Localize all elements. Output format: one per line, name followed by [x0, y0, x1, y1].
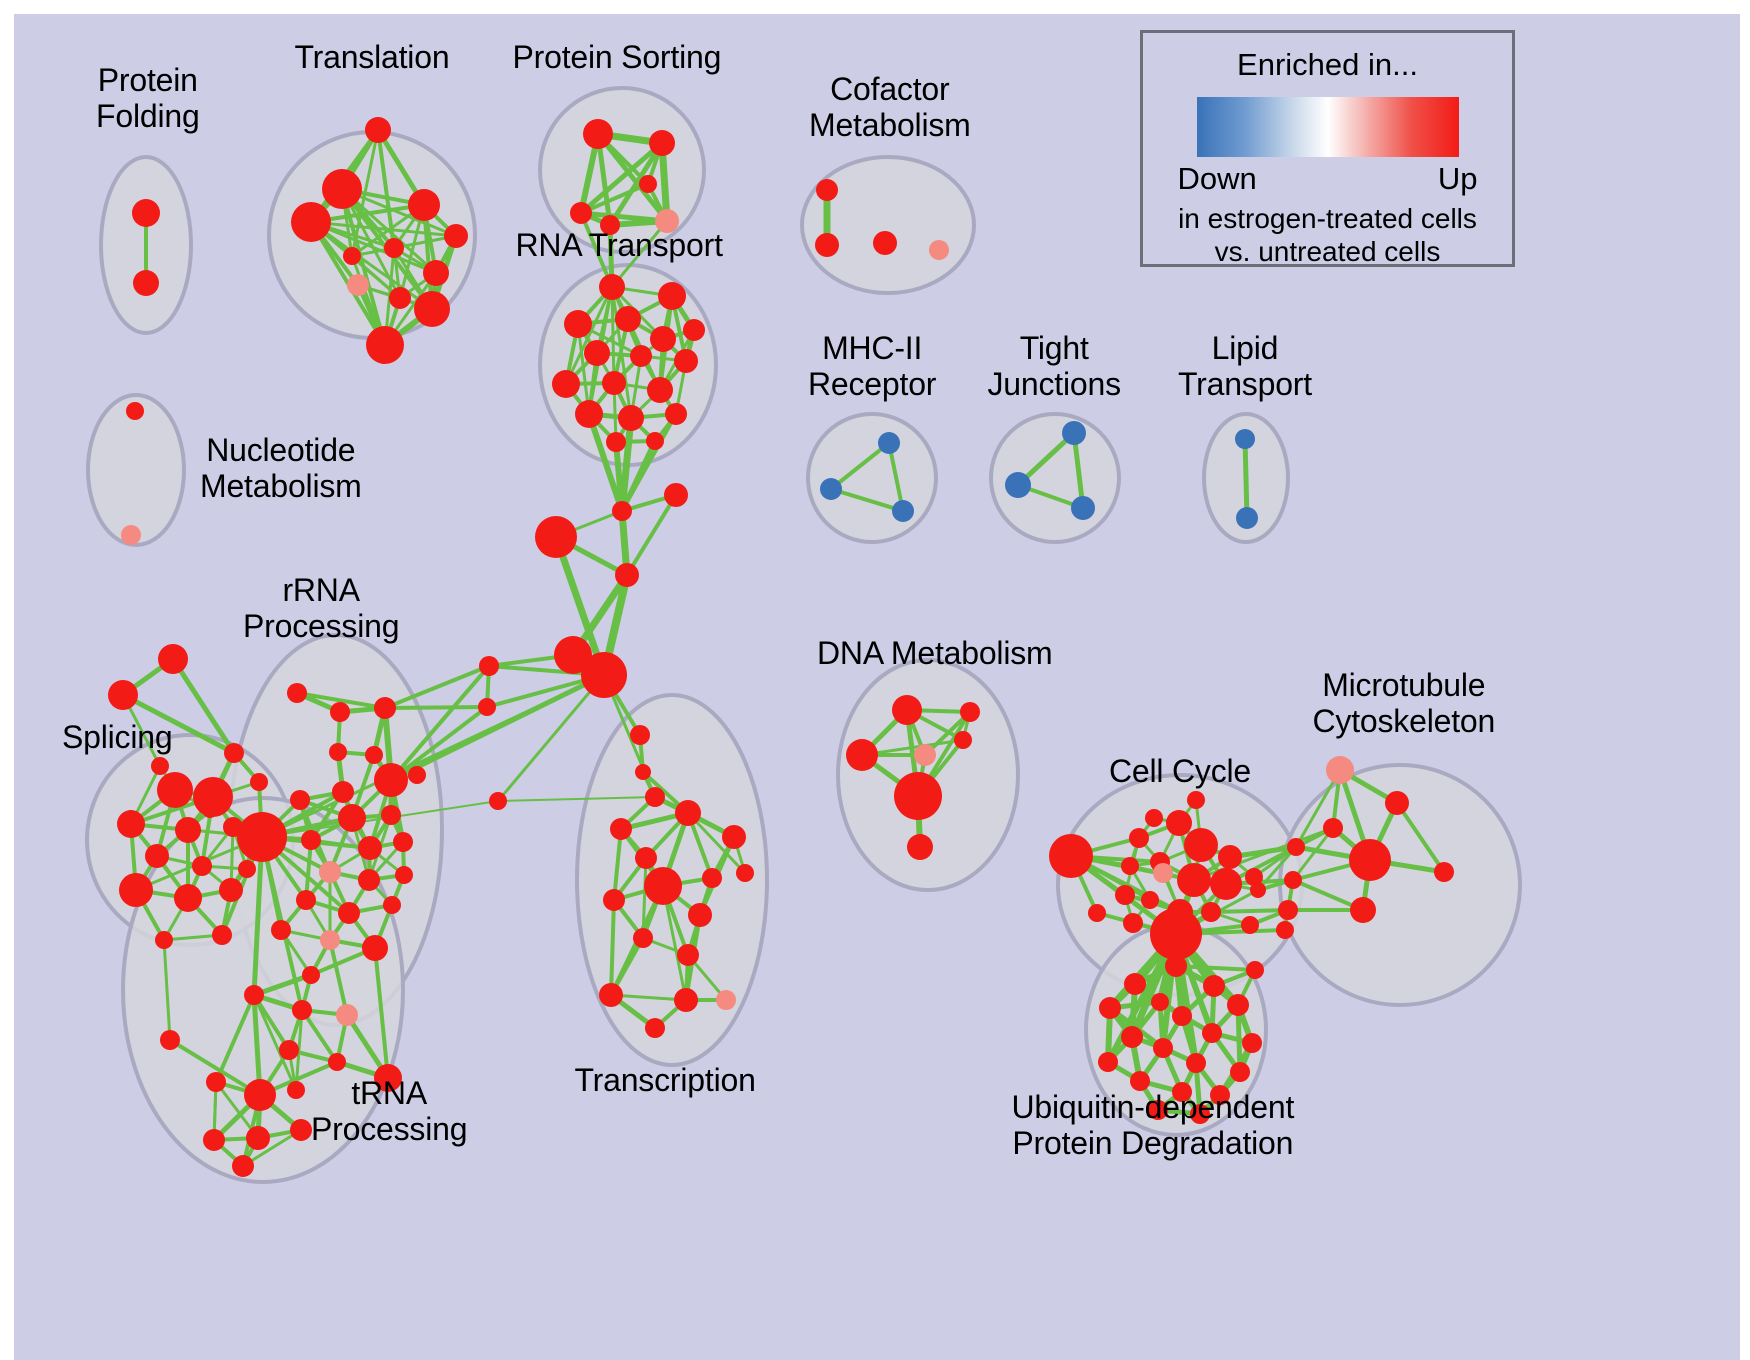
- gene-set-node[interactable]: [292, 1000, 312, 1020]
- gene-set-node[interactable]: [408, 189, 440, 221]
- gene-set-node[interactable]: [374, 697, 396, 719]
- gene-set-node[interactable]: [192, 856, 212, 876]
- gene-set-node[interactable]: [716, 990, 736, 1010]
- gene-set-node[interactable]: [846, 739, 878, 771]
- gene-set-node[interactable]: [552, 370, 580, 398]
- gene-set-node[interactable]: [244, 1079, 276, 1111]
- gene-set-node[interactable]: [219, 878, 243, 902]
- gene-set-node[interactable]: [1145, 809, 1163, 827]
- cluster-label-tight-junctions: Tight Junctions: [988, 331, 1121, 403]
- gene-set-node[interactable]: [1184, 828, 1218, 862]
- gene-set-node[interactable]: [1323, 818, 1343, 838]
- gene-set-node[interactable]: [564, 310, 592, 338]
- gene-set-node[interactable]: [677, 944, 699, 966]
- gene-set-node[interactable]: [702, 868, 722, 888]
- gene-set-node[interactable]: [1235, 429, 1255, 449]
- gene-set-node[interactable]: [174, 884, 202, 912]
- gene-set-node[interactable]: [383, 896, 401, 914]
- gene-set-node[interactable]: [602, 371, 626, 395]
- legend-down-label: Down: [1178, 161, 1257, 197]
- gene-set-node[interactable]: [121, 525, 141, 545]
- gene-set-node[interactable]: [639, 175, 657, 193]
- gene-set-node[interactable]: [960, 702, 980, 722]
- gene-set-node[interactable]: [212, 925, 232, 945]
- gene-set-node[interactable]: [336, 1004, 358, 1026]
- gene-set-node[interactable]: [347, 274, 369, 296]
- gene-set-node[interactable]: [203, 1129, 225, 1151]
- cluster-label-splicing: Splicing: [62, 720, 172, 756]
- gene-set-node[interactable]: [301, 830, 321, 850]
- gene-set-node[interactable]: [892, 695, 922, 725]
- gene-set-node[interactable]: [108, 680, 138, 710]
- gene-set-node[interactable]: [250, 773, 268, 791]
- gene-set-node[interactable]: [1124, 973, 1146, 995]
- gene-set-node[interactable]: [1172, 1006, 1192, 1026]
- gene-set-node[interactable]: [1187, 791, 1205, 809]
- gene-set-node[interactable]: [132, 199, 160, 227]
- cluster-label-rna-transport: RNA Transport: [516, 228, 723, 264]
- gene-set-node[interactable]: [815, 233, 839, 257]
- gene-set-node[interactable]: [665, 403, 687, 425]
- gene-set-node[interactable]: [160, 1030, 180, 1050]
- gene-set-node[interactable]: [581, 652, 627, 698]
- gene-set-node[interactable]: [1071, 496, 1095, 520]
- gene-set-node[interactable]: [630, 725, 650, 745]
- cluster-label-rrna-processing: rRNA Processing: [243, 573, 399, 645]
- gene-set-node[interactable]: [674, 349, 698, 373]
- gene-set-node[interactable]: [1186, 1053, 1206, 1073]
- gene-set-node[interactable]: [332, 781, 354, 803]
- gene-set-node[interactable]: [664, 483, 688, 507]
- gene-set-node[interactable]: [606, 432, 626, 452]
- gene-set-node[interactable]: [644, 867, 682, 905]
- legend-subtitle-line2: vs. untreated cells: [1143, 236, 1512, 268]
- legend-endpoints: Down Up: [1178, 161, 1478, 197]
- gene-set-node[interactable]: [232, 1155, 254, 1177]
- gene-set-node[interactable]: [1434, 862, 1454, 882]
- gene-set-node[interactable]: [722, 825, 746, 849]
- gene-set-node[interactable]: [1218, 845, 1242, 869]
- gene-set-node[interactable]: [688, 903, 712, 927]
- gene-set-node[interactable]: [279, 1040, 299, 1060]
- gene-set-node[interactable]: [408, 766, 426, 784]
- gene-set-node[interactable]: [1242, 1033, 1262, 1053]
- gene-set-node[interactable]: [1230, 1062, 1250, 1082]
- gene-set-node[interactable]: [338, 902, 360, 924]
- gene-set-node[interactable]: [635, 764, 651, 780]
- gene-set-node[interactable]: [1284, 871, 1302, 889]
- gene-set-node[interactable]: [633, 928, 653, 948]
- gene-set-node[interactable]: [635, 847, 657, 869]
- gene-set-node[interactable]: [1349, 839, 1391, 881]
- gene-set-node[interactable]: [202, 802, 218, 818]
- gene-set-node[interactable]: [1098, 1052, 1118, 1072]
- gene-set-node[interactable]: [816, 179, 838, 201]
- gene-set-node[interactable]: [584, 340, 610, 366]
- gene-set-node[interactable]: [615, 306, 641, 332]
- gene-set-node[interactable]: [374, 763, 408, 797]
- gene-set-node[interactable]: [1130, 1071, 1150, 1091]
- gene-set-node[interactable]: [1241, 916, 1259, 934]
- gene-set-node[interactable]: [358, 836, 382, 860]
- gene-set-node[interactable]: [570, 202, 592, 224]
- gene-set-node[interactable]: [384, 238, 404, 258]
- gene-set-node[interactable]: [1350, 897, 1376, 923]
- gene-set-node[interactable]: [873, 231, 897, 255]
- gene-set-node[interactable]: [330, 702, 350, 722]
- gene-set-node[interactable]: [271, 920, 291, 940]
- gene-set-node[interactable]: [145, 844, 169, 868]
- gene-set-node[interactable]: [894, 772, 942, 820]
- gene-set-node[interactable]: [151, 757, 169, 775]
- gene-set-node[interactable]: [244, 985, 264, 1005]
- gene-set-node[interactable]: [366, 326, 404, 364]
- gene-set-node[interactable]: [1049, 834, 1093, 878]
- gene-set-node[interactable]: [1385, 791, 1409, 815]
- cluster-label-transcription: Transcription: [575, 1063, 756, 1099]
- gene-set-node[interactable]: [1250, 882, 1266, 898]
- gene-set-node[interactable]: [414, 291, 450, 327]
- gene-set-node[interactable]: [1099, 997, 1121, 1019]
- gene-set-node[interactable]: [610, 818, 632, 840]
- gene-set-node[interactable]: [1165, 955, 1187, 977]
- gene-set-node[interactable]: [674, 988, 698, 1012]
- gene-set-node[interactable]: [649, 130, 675, 156]
- cluster-label-ubiquitin-protein-degradation: Ubiquitin-dependent Protein Degradation: [1012, 1090, 1295, 1162]
- gene-set-node[interactable]: [343, 247, 361, 265]
- gene-set-node[interactable]: [1115, 885, 1135, 905]
- gene-set-node[interactable]: [1151, 993, 1169, 1011]
- gene-set-node[interactable]: [647, 377, 673, 403]
- gene-set-node[interactable]: [599, 274, 625, 300]
- gene-set-node[interactable]: [1326, 756, 1354, 784]
- gene-set-node[interactable]: [1129, 828, 1149, 848]
- gene-set-node[interactable]: [1005, 472, 1031, 498]
- gene-set-node[interactable]: [479, 656, 499, 676]
- gene-set-node[interactable]: [820, 478, 842, 500]
- cluster-label-nucleotide-metabolism: Nucleotide Metabolism: [200, 433, 362, 505]
- gene-set-node[interactable]: [157, 772, 193, 808]
- gene-set-node[interactable]: [954, 731, 972, 749]
- gene-set-node[interactable]: [1202, 1023, 1222, 1043]
- gene-set-node[interactable]: [362, 935, 388, 961]
- gene-set-node[interactable]: [423, 260, 449, 286]
- gene-set-node[interactable]: [389, 287, 411, 309]
- cluster-label-protein-sorting: Protein Sorting: [513, 40, 722, 76]
- color-scale-bar: [1197, 97, 1459, 157]
- gene-set-node[interactable]: [206, 1072, 226, 1092]
- gene-set-node[interactable]: [246, 1126, 270, 1150]
- gene-set-node[interactable]: [358, 869, 380, 891]
- gene-set-node[interactable]: [1153, 1038, 1173, 1058]
- gene-set-node[interactable]: [736, 864, 754, 882]
- gene-set-node[interactable]: [117, 810, 145, 838]
- cluster-label-translation: Translation: [295, 40, 450, 76]
- gene-set-node[interactable]: [1287, 838, 1305, 856]
- gene-set-node[interactable]: [381, 805, 401, 825]
- gene-set-node[interactable]: [1276, 921, 1294, 939]
- gene-set-node[interactable]: [646, 432, 664, 450]
- gene-set-node[interactable]: [1150, 908, 1202, 960]
- cluster-label-mhc-ii-receptor: MHC-II Receptor: [808, 331, 936, 403]
- gene-set-node[interactable]: [395, 866, 413, 884]
- gene-set-node[interactable]: [892, 500, 914, 522]
- gene-set-node[interactable]: [290, 1119, 312, 1141]
- gene-set-node[interactable]: [914, 744, 936, 766]
- cluster-label-trna-processing: tRNA Processing: [311, 1076, 467, 1148]
- cluster-label-protein-folding: Protein Folding: [96, 63, 200, 135]
- gene-set-node[interactable]: [535, 516, 577, 558]
- gene-set-node[interactable]: [320, 930, 340, 950]
- legend-subtitle-line1: in estrogen-treated cells: [1143, 203, 1512, 235]
- gene-set-node[interactable]: [444, 224, 468, 248]
- gene-set-node[interactable]: [119, 873, 153, 907]
- gene-set-node[interactable]: [133, 270, 159, 296]
- gene-set-node[interactable]: [290, 790, 310, 810]
- gene-set-node[interactable]: [1141, 891, 1159, 909]
- gene-set-node[interactable]: [1246, 961, 1264, 979]
- cluster-label-dna-metabolism: DNA Metabolism: [817, 636, 1053, 672]
- cluster-label-cofactor-metabolism: Cofactor Metabolism: [809, 72, 971, 144]
- cluster-label-lipid-transport: Lipid Transport: [1178, 331, 1312, 403]
- gene-set-node[interactable]: [478, 698, 496, 716]
- gene-set-node[interactable]: [1123, 913, 1143, 933]
- gene-set-node[interactable]: [603, 889, 625, 911]
- gene-set-node[interactable]: [683, 319, 705, 341]
- legend-panel: Enriched in... Down Up in estrogen-treat…: [1140, 30, 1515, 267]
- gene-set-node[interactable]: [907, 834, 933, 860]
- gene-set-node[interactable]: [291, 202, 331, 242]
- gene-set-node[interactable]: [650, 326, 676, 352]
- gene-set-node[interactable]: [615, 563, 639, 587]
- gene-set-node[interactable]: [1166, 810, 1192, 836]
- gene-set-node[interactable]: [287, 683, 307, 703]
- gene-set-node[interactable]: [583, 119, 613, 149]
- gene-set-node[interactable]: [365, 117, 391, 143]
- network-edge: [1211, 910, 1288, 912]
- gene-set-node[interactable]: [338, 804, 366, 832]
- gene-set-node[interactable]: [155, 931, 173, 949]
- gene-set-node[interactable]: [296, 890, 316, 910]
- gene-set-node[interactable]: [630, 345, 652, 367]
- gene-set-node[interactable]: [126, 402, 144, 420]
- gene-set-node[interactable]: [1062, 421, 1086, 445]
- hull-mhc-ii: [808, 414, 936, 542]
- gene-set-node[interactable]: [878, 432, 900, 454]
- gene-set-node[interactable]: [328, 1053, 346, 1071]
- gene-set-node[interactable]: [329, 743, 347, 761]
- network-edge: [498, 675, 604, 801]
- gene-set-node[interactable]: [645, 787, 665, 807]
- gene-set-node[interactable]: [365, 746, 383, 764]
- gene-set-node[interactable]: [238, 860, 256, 878]
- gene-set-node[interactable]: [302, 966, 320, 984]
- gene-set-node[interactable]: [287, 1081, 305, 1099]
- gene-set-node[interactable]: [158, 644, 188, 674]
- gene-set-node[interactable]: [1227, 994, 1249, 1016]
- gene-set-node[interactable]: [675, 800, 701, 826]
- cluster-label-cell-cycle: Cell Cycle: [1109, 754, 1251, 790]
- gene-set-node[interactable]: [1210, 868, 1242, 900]
- gene-set-node[interactable]: [1121, 1026, 1143, 1048]
- gene-set-node[interactable]: [612, 501, 632, 521]
- legend-up-label: Up: [1438, 161, 1478, 197]
- network-edge: [1245, 439, 1247, 518]
- enrichment-network-figure: Protein FoldingTranslationProtein Sortin…: [0, 0, 1750, 1360]
- gene-set-node[interactable]: [319, 861, 341, 883]
- gene-set-node[interactable]: [1236, 507, 1258, 529]
- legend-title: Enriched in...: [1143, 47, 1512, 83]
- gene-set-node[interactable]: [393, 832, 413, 852]
- gene-set-node[interactable]: [1121, 857, 1139, 875]
- gene-set-node[interactable]: [489, 792, 507, 810]
- gene-set-node[interactable]: [658, 282, 686, 310]
- gene-set-node[interactable]: [175, 817, 201, 843]
- gene-set-node[interactable]: [575, 400, 603, 428]
- gene-set-node[interactable]: [645, 1018, 665, 1038]
- gene-set-node[interactable]: [1278, 900, 1298, 920]
- cluster-label-microtubule-cytoskeleton: Microtubule Cytoskeleton: [1313, 668, 1496, 740]
- network-edge: [385, 707, 487, 708]
- gene-set-node[interactable]: [929, 240, 949, 260]
- gene-set-node[interactable]: [237, 812, 287, 862]
- gene-set-node[interactable]: [1088, 904, 1106, 922]
- gene-set-node[interactable]: [1201, 902, 1221, 922]
- gene-set-node[interactable]: [1153, 863, 1173, 883]
- gene-set-node[interactable]: [224, 743, 244, 763]
- gene-set-node[interactable]: [599, 983, 623, 1007]
- gene-set-node[interactable]: [1203, 975, 1225, 997]
- gene-set-node[interactable]: [1177, 863, 1211, 897]
- gene-set-node[interactable]: [322, 169, 362, 209]
- gene-set-node[interactable]: [618, 405, 644, 431]
